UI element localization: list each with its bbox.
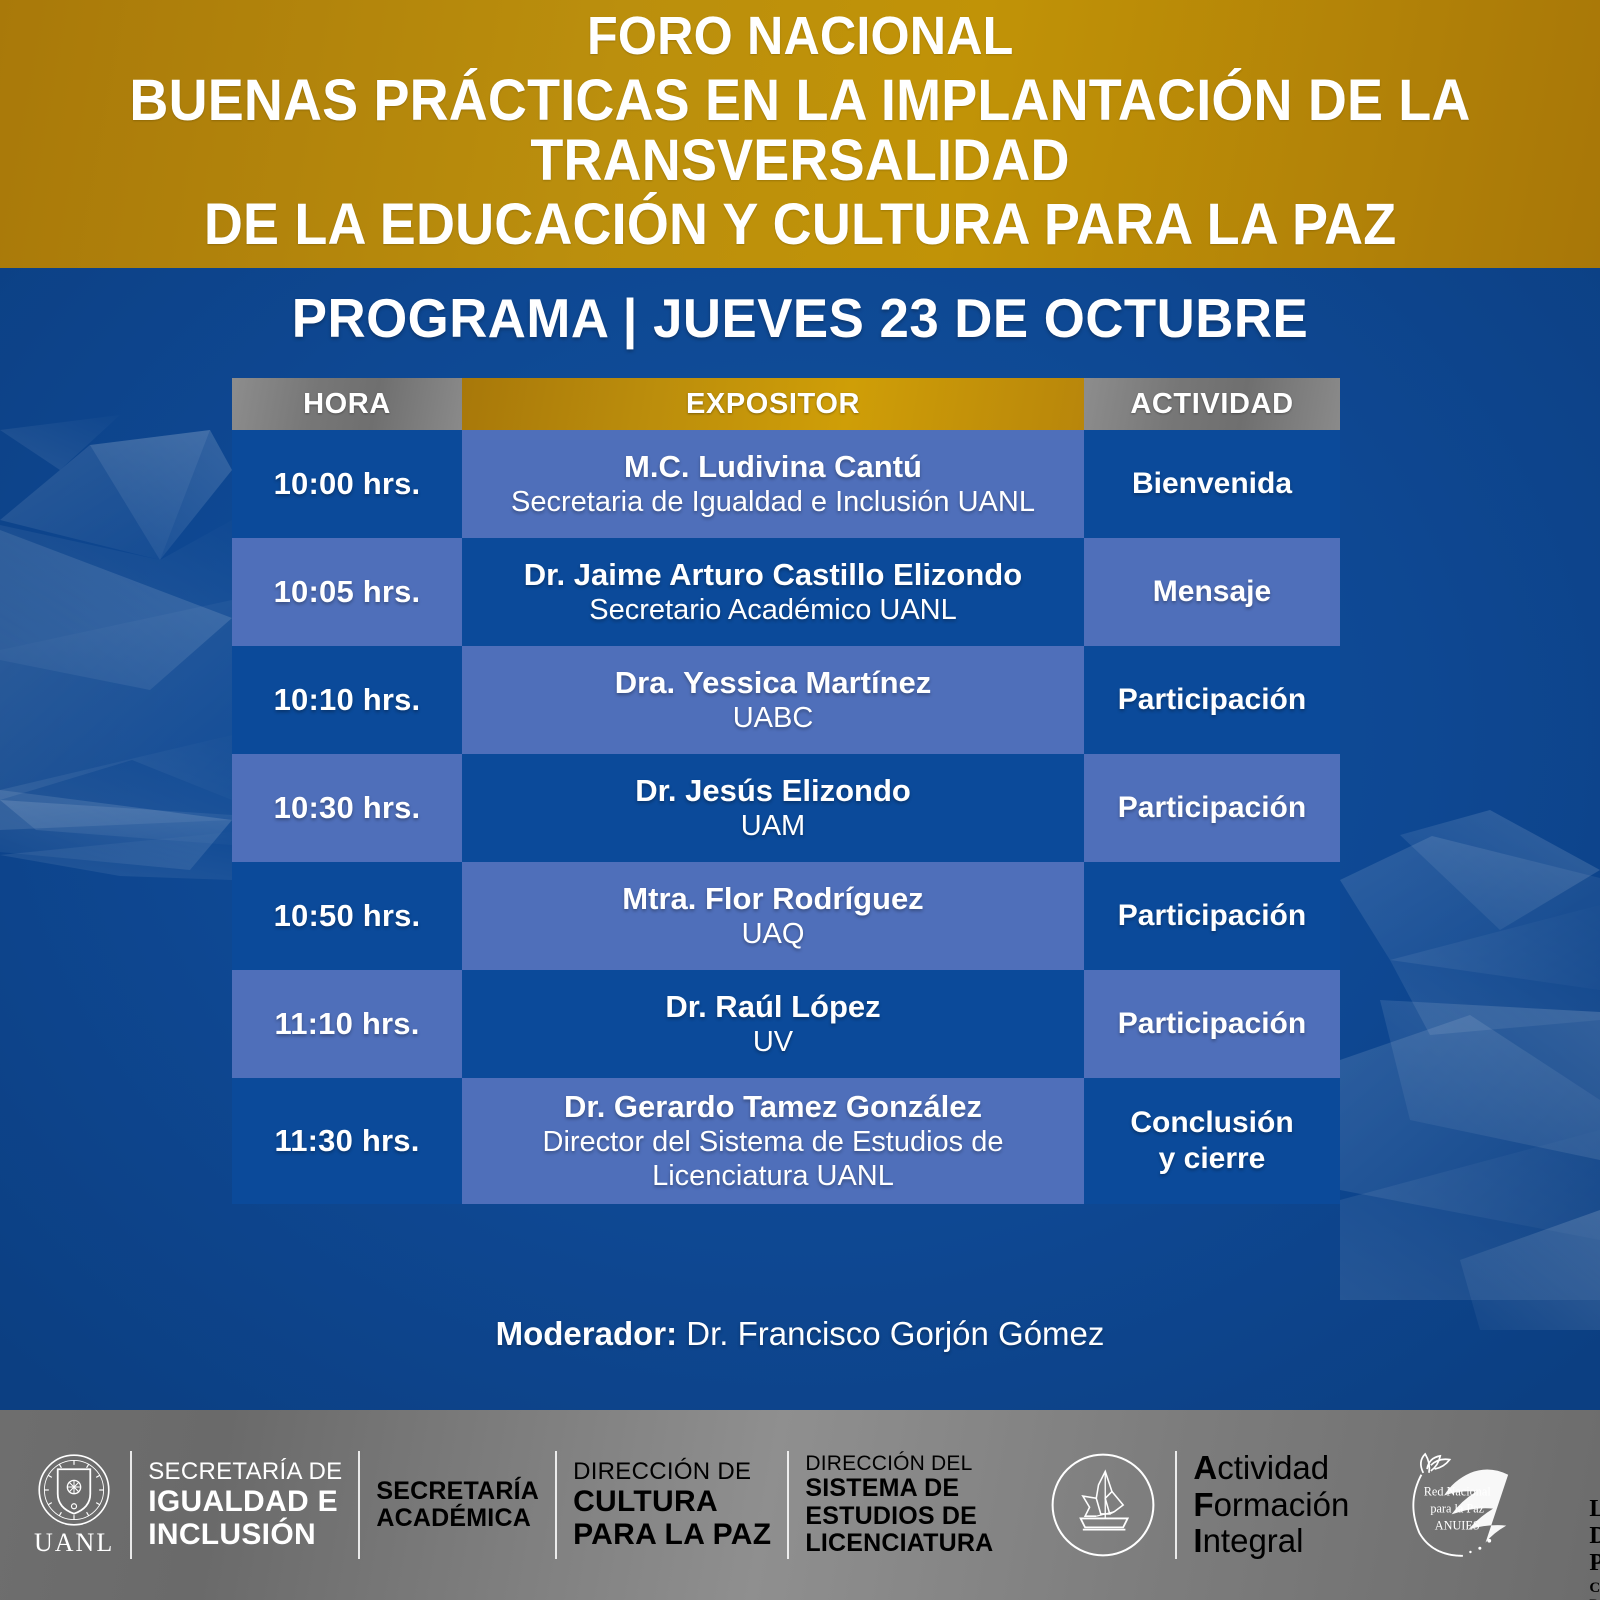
cell-hora: 10:05 hrs. bbox=[232, 538, 462, 646]
cell-actividad: Participación bbox=[1084, 646, 1340, 754]
sistema-thin: DIRECCIÓN DEL bbox=[805, 1452, 993, 1475]
cell-actividad: Participación bbox=[1084, 970, 1340, 1078]
hora-text: 10:00 hrs. bbox=[274, 466, 421, 502]
table-row: 10:05 hrs.Dr. Jaime Arturo Castillo Eliz… bbox=[232, 538, 1340, 646]
expositor-name: Dr. Jesús Elizondo bbox=[635, 773, 911, 809]
actividad-text: Mensaje bbox=[1153, 574, 1271, 610]
afi-formacion: ormación bbox=[1214, 1486, 1350, 1523]
cell-actividad: Mensaje bbox=[1084, 538, 1340, 646]
actividad-text: Participación bbox=[1118, 1006, 1306, 1042]
afi-integral: ntegral bbox=[1203, 1522, 1304, 1559]
logo-red-nacional: Red Nacional para la Paz ANUIES bbox=[1395, 1437, 1527, 1574]
cell-hora: 10:30 hrs. bbox=[232, 754, 462, 862]
table-header-row: HORA EXPOSITOR ACTIVIDAD bbox=[232, 378, 1340, 430]
cell-actividad: Bienvenida bbox=[1084, 430, 1340, 538]
hora-text: 11:10 hrs. bbox=[274, 1006, 419, 1042]
actividad-text: Conclusióny cierre bbox=[1130, 1105, 1293, 1177]
table-row: 11:30 hrs.Dr. Gerardo Tamez GonzálezDire… bbox=[232, 1078, 1340, 1204]
hora-text: 10:10 hrs. bbox=[274, 682, 421, 718]
red-nacional-dove-icon: Red Nacional para la Paz ANUIES bbox=[1395, 1437, 1527, 1569]
divider-2 bbox=[358, 1451, 360, 1559]
cell-hora: 10:10 hrs. bbox=[232, 646, 462, 754]
logo-secretaria-academica: SECRETARÍA ACADÉMICA bbox=[376, 1478, 539, 1533]
actividad-text: Participación bbox=[1118, 790, 1306, 826]
footer-logo-bar: UANL SECRETARÍA DE IGUALDAD E INCLUSIÓN … bbox=[0, 1410, 1600, 1600]
uanl-seal-icon bbox=[37, 1453, 111, 1527]
expositor-name: Dr. Jaime Arturo Castillo Elizondo bbox=[524, 557, 1022, 593]
sistema-bold1: SISTEMA DE bbox=[805, 1475, 993, 1503]
igualdad-thin: SECRETARÍA DE bbox=[148, 1459, 342, 1485]
igualdad-bold2: INCLUSIÓN bbox=[148, 1518, 342, 1551]
red-nacional-l3: ANUIES bbox=[1435, 1518, 1480, 1532]
expositor-role: UV bbox=[753, 1025, 793, 1059]
la-paz-title: LA PAZ DESDE LA PAZ bbox=[1589, 1496, 1600, 1577]
divider-5 bbox=[1175, 1451, 1177, 1559]
la-paz-mark-icon bbox=[1597, 1396, 1600, 1490]
logo-la-paz-desde-la-paz: LA PAZ DESDE LA PAZ CONSTRUYAMOS PAZ SIN… bbox=[1589, 1396, 1600, 1600]
cell-expositor: Dr. Jesús ElizondoUAM bbox=[462, 754, 1084, 862]
poster-canvas: FORO NACIONAL BUENAS PRÁCTICAS EN LA IMP… bbox=[0, 0, 1600, 1600]
hora-text: 11:30 hrs. bbox=[274, 1123, 419, 1159]
afi-a: A bbox=[1193, 1449, 1217, 1486]
expositor-name: M.C. Ludivina Cantú bbox=[624, 449, 922, 485]
actividad-text: Bienvenida bbox=[1132, 466, 1292, 502]
afi-f: F bbox=[1193, 1486, 1213, 1523]
header-line-2: BUENAS PRÁCTICAS EN LA IMPLANTACIÓN DE L… bbox=[69, 71, 1531, 192]
header-line-1: FORO NACIONAL bbox=[587, 8, 1013, 64]
moderator-name: Dr. Francisco Gorjón Gómez bbox=[686, 1315, 1104, 1352]
divider-3 bbox=[555, 1451, 557, 1559]
cell-hora: 10:00 hrs. bbox=[232, 430, 462, 538]
cultura-bold1: CULTURA bbox=[573, 1485, 771, 1518]
sistema-bold2: ESTUDIOS DE bbox=[805, 1503, 993, 1531]
column-header-hora: HORA bbox=[232, 378, 462, 430]
logo-afi: Actividad Formación Integral bbox=[1047, 1449, 1349, 1561]
cell-expositor: Dr. Gerardo Tamez GonzálezDirector del S… bbox=[462, 1078, 1084, 1204]
expositor-name: Dra. Yessica Martínez bbox=[615, 665, 932, 701]
poster-header-band: FORO NACIONAL BUENAS PRÁCTICAS EN LA IMP… bbox=[0, 0, 1600, 268]
cell-hora: 11:30 hrs. bbox=[232, 1078, 462, 1204]
program-table: HORA EXPOSITOR ACTIVIDAD 10:00 hrs.M.C. … bbox=[232, 378, 1340, 1204]
cell-hora: 10:50 hrs. bbox=[232, 862, 462, 970]
divider-1 bbox=[130, 1451, 132, 1559]
expositor-name: Mtra. Flor Rodríguez bbox=[622, 881, 923, 917]
table-body: 10:00 hrs.M.C. Ludivina CantúSecretaria … bbox=[232, 430, 1340, 1204]
column-header-expositor: EXPOSITOR bbox=[462, 378, 1084, 430]
red-nacional-l2: para la Paz bbox=[1431, 1501, 1485, 1515]
expositor-role: Secretaria de Igualdad e Inclusión UANL bbox=[511, 485, 1035, 519]
expositor-role: UABC bbox=[733, 701, 814, 735]
logo-igualdad-inclusion: SECRETARÍA DE IGUALDAD E INCLUSIÓN bbox=[148, 1459, 342, 1551]
cell-actividad: Participación bbox=[1084, 754, 1340, 862]
moderator-line: Moderador: Dr. Francisco Gorjón Gómez bbox=[0, 1315, 1600, 1353]
logo-uanl: UANL SECRETARÍA DE IGUALDAD E INCLUSIÓN bbox=[34, 1451, 342, 1559]
red-nacional-l1: Red Nacional bbox=[1424, 1484, 1492, 1498]
table-row: 10:10 hrs.Dra. Yessica MartínezUABCParti… bbox=[232, 646, 1340, 754]
cell-actividad: Conclusióny cierre bbox=[1084, 1078, 1340, 1204]
table-row: 10:30 hrs.Dr. Jesús ElizondoUAMParticipa… bbox=[232, 754, 1340, 862]
academica-bold1: SECRETARÍA bbox=[376, 1478, 539, 1506]
hora-text: 10:05 hrs. bbox=[274, 574, 421, 610]
cell-expositor: Mtra. Flor RodríguezUAQ bbox=[462, 862, 1084, 970]
header-line-3: DE LA EDUCACIÓN Y CULTURA PARA LA PAZ bbox=[204, 195, 1397, 255]
moderator-label: Moderador: bbox=[496, 1315, 678, 1352]
expositor-role: Director del Sistema de Estudios deLicen… bbox=[543, 1125, 1004, 1193]
expositor-name: Dr. Raúl López bbox=[665, 989, 880, 1025]
afi-actividad: ctividad bbox=[1217, 1449, 1329, 1486]
table-row: 11:10 hrs.Dr. Raúl LópezUVParticipación bbox=[232, 970, 1340, 1078]
divider-4 bbox=[787, 1451, 789, 1559]
cell-expositor: Dr. Raúl LópezUV bbox=[462, 970, 1084, 1078]
cultura-thin: DIRECCIÓN DE bbox=[573, 1459, 771, 1485]
expositor-role: UAM bbox=[741, 809, 805, 843]
expositor-role: UAQ bbox=[742, 917, 805, 951]
hora-text: 10:30 hrs. bbox=[274, 790, 421, 826]
cultura-bold2: PARA LA PAZ bbox=[573, 1518, 771, 1551]
afi-ship-icon bbox=[1047, 1449, 1159, 1561]
cell-expositor: Dr. Jaime Arturo Castillo ElizondoSecret… bbox=[462, 538, 1084, 646]
actividad-text: Participación bbox=[1118, 682, 1306, 718]
igualdad-bold1: IGUALDAD E bbox=[148, 1485, 342, 1518]
uanl-caption: UANL bbox=[34, 1528, 114, 1558]
column-header-actividad: ACTIVIDAD bbox=[1084, 378, 1340, 430]
actividad-text: Participación bbox=[1118, 898, 1306, 934]
academica-bold2: ACADÉMICA bbox=[376, 1505, 539, 1533]
table-row: 10:50 hrs.Mtra. Flor RodríguezUAQPartici… bbox=[232, 862, 1340, 970]
afi-letters: Actividad Formación Integral bbox=[1193, 1450, 1349, 1561]
hora-text: 10:50 hrs. bbox=[274, 898, 421, 934]
cell-expositor: M.C. Ludivina CantúSecretaria de Igualda… bbox=[462, 430, 1084, 538]
cell-expositor: Dra. Yessica MartínezUABC bbox=[462, 646, 1084, 754]
cell-hora: 11:10 hrs. bbox=[232, 970, 462, 1078]
table-row: 10:00 hrs.M.C. Ludivina CantúSecretaria … bbox=[232, 430, 1340, 538]
program-title: PROGRAMA | JUEVES 23 DE OCTUBRE bbox=[32, 286, 1568, 350]
expositor-role: Secretario Académico UANL bbox=[589, 593, 957, 627]
logo-sistema-estudios: DIRECCIÓN DEL SISTEMA DE ESTUDIOS DE LIC… bbox=[805, 1452, 993, 1558]
afi-i: I bbox=[1193, 1522, 1202, 1559]
sistema-bold3: LICENCIATURA bbox=[805, 1530, 993, 1558]
logo-cultura-paz: DIRECCIÓN DE CULTURA PARA LA PAZ bbox=[573, 1459, 771, 1551]
cell-actividad: Participación bbox=[1084, 862, 1340, 970]
la-paz-subtitle: CONSTRUYAMOS PAZ SIN ARMAS bbox=[1589, 1580, 1600, 1600]
expositor-name: Dr. Gerardo Tamez González bbox=[564, 1089, 982, 1125]
